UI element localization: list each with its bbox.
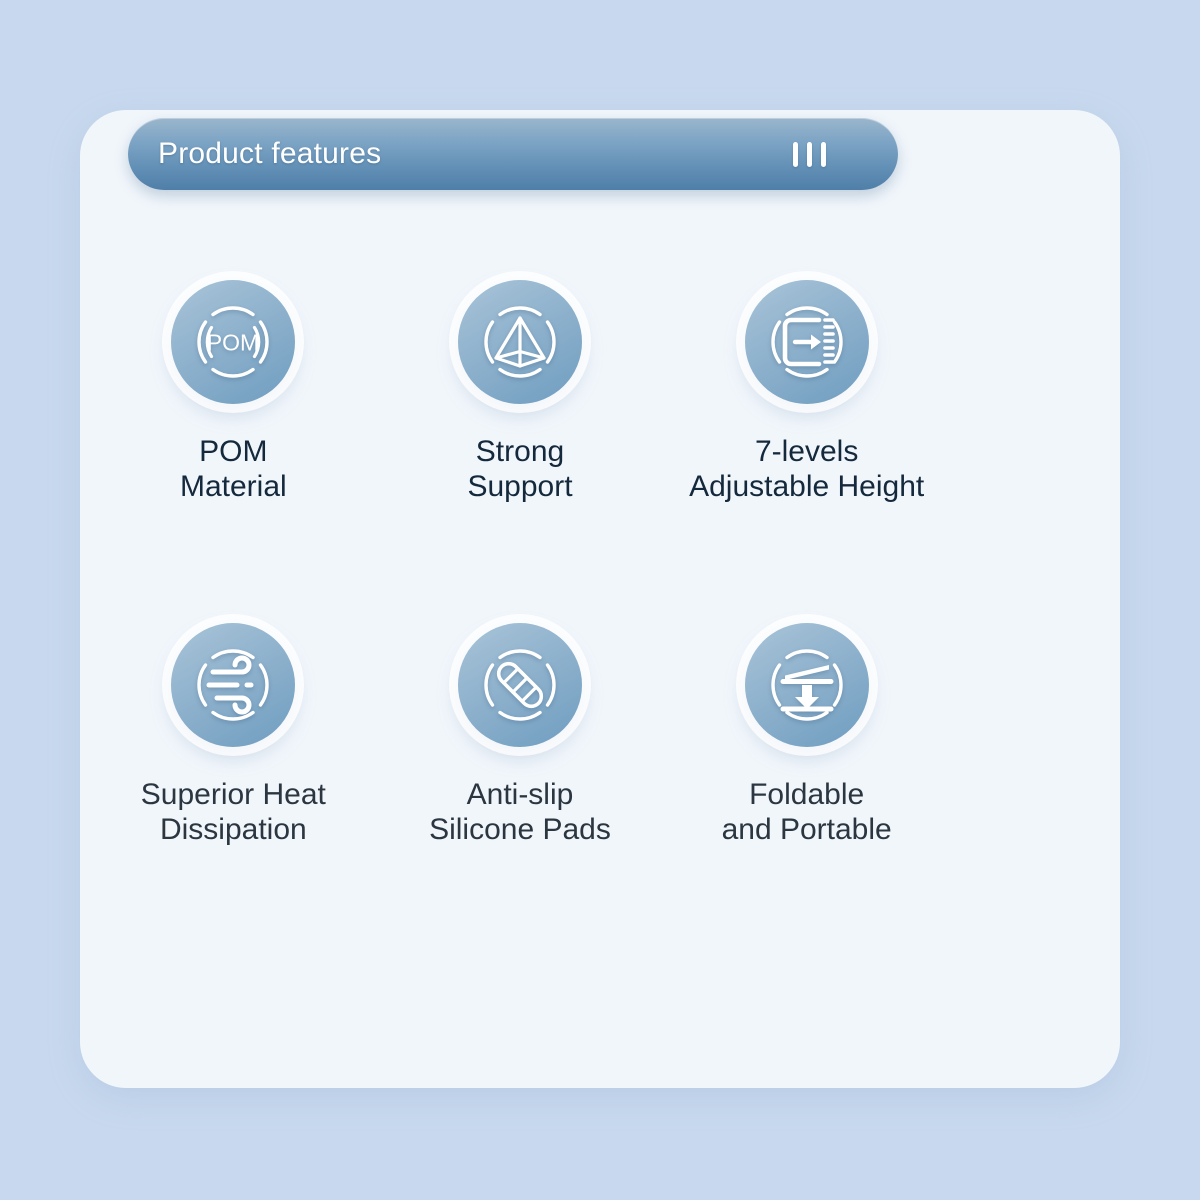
feature-item-strong-support[interactable]: Strong Support <box>377 280 664 505</box>
section-header-pill: Product features <box>128 118 898 190</box>
feature-label: POM Material <box>180 434 287 505</box>
pom-icon-text: POM <box>207 330 259 356</box>
feature-item-silicone-pads[interactable]: Anti-slip Silicone Pads <box>377 623 664 848</box>
menu-bar-3 <box>821 142 826 167</box>
product-features-poster: Product features <box>0 0 1200 1200</box>
silicone-pad-icon <box>458 623 582 747</box>
adjustable-height-ruler-icon <box>745 280 869 404</box>
feature-label: Anti-slip Silicone Pads <box>429 777 611 848</box>
pom-material-icon: POM <box>171 280 295 404</box>
feature-item-heat-dissipation[interactable]: Superior Heat Dissipation <box>90 623 377 848</box>
feature-label: 7-levels Adjustable Height <box>689 434 924 505</box>
foldable-portable-icon <box>745 623 869 747</box>
three-vertical-bars-icon[interactable] <box>793 142 826 167</box>
menu-bar-2 <box>807 142 812 167</box>
pyramid-support-icon <box>458 280 582 404</box>
feature-label: Foldable and Portable <box>722 777 892 848</box>
feature-item-foldable-portable[interactable]: Foldable and Portable <box>663 623 950 848</box>
feature-item-adjustable-height[interactable]: 7-levels Adjustable Height <box>663 280 950 505</box>
feature-grid: POM POM Material <box>90 280 950 848</box>
page-title: Product features <box>158 137 381 171</box>
feature-label: Strong Support <box>467 434 572 505</box>
feature-label: Superior Heat Dissipation <box>141 777 326 848</box>
menu-bar-1 <box>793 142 798 167</box>
airflow-heat-dissipation-icon <box>171 623 295 747</box>
feature-item-pom-material[interactable]: POM POM Material <box>90 280 377 505</box>
